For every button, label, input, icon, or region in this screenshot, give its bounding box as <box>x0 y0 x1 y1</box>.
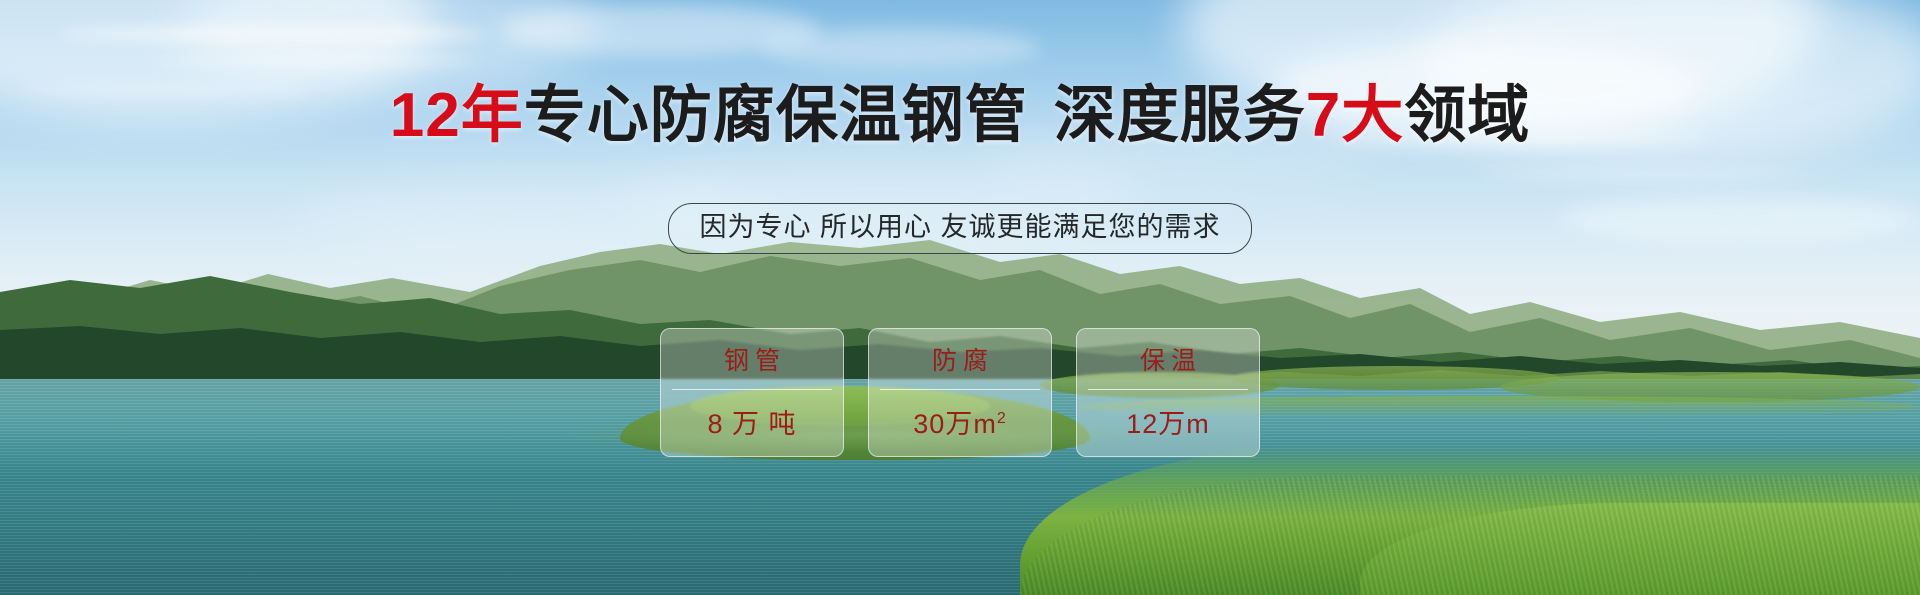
stat-label: 防腐 <box>926 346 994 389</box>
stat-card-insulation[interactable]: 保温 12万m <box>1076 328 1260 457</box>
stat-card-steel-pipe[interactable]: 钢管 8 万 吨 <box>660 328 844 457</box>
headline-service: 深度服务 <box>1054 81 1306 150</box>
headline-years: 12年 <box>390 81 524 150</box>
stat-unit-sup: 2 <box>997 410 1007 427</box>
headline-main: 专心防腐保温钢管 <box>524 81 1028 150</box>
subtitle-container: 因为专心 所以用心 友诚更能满足您的需求 <box>0 203 1920 254</box>
stat-label: 保温 <box>1134 346 1202 389</box>
promotional-banner: 12年专心防腐保温钢管深度服务7大领域 因为专心 所以用心 友诚更能满足您的需求… <box>0 0 1920 595</box>
stat-value: 12万m <box>1126 390 1210 440</box>
headline-seven: 7大 <box>1306 81 1404 150</box>
page-title: 12年专心防腐保温钢管深度服务7大领域 <box>0 81 1920 151</box>
headline-fields: 领域 <box>1404 81 1530 150</box>
stat-card-anticorrosion[interactable]: 防腐 30万m2 <box>868 328 1052 457</box>
stat-value: 8 万 吨 <box>707 390 796 440</box>
subtitle-pill: 因为专心 所以用心 友诚更能满足您的需求 <box>668 203 1251 254</box>
stats-card-group: 钢管 8 万 吨 防腐 30万m2 保温 12万m <box>0 328 1920 457</box>
stat-label: 钢管 <box>718 346 786 389</box>
stat-value: 30万m2 <box>913 390 1006 440</box>
